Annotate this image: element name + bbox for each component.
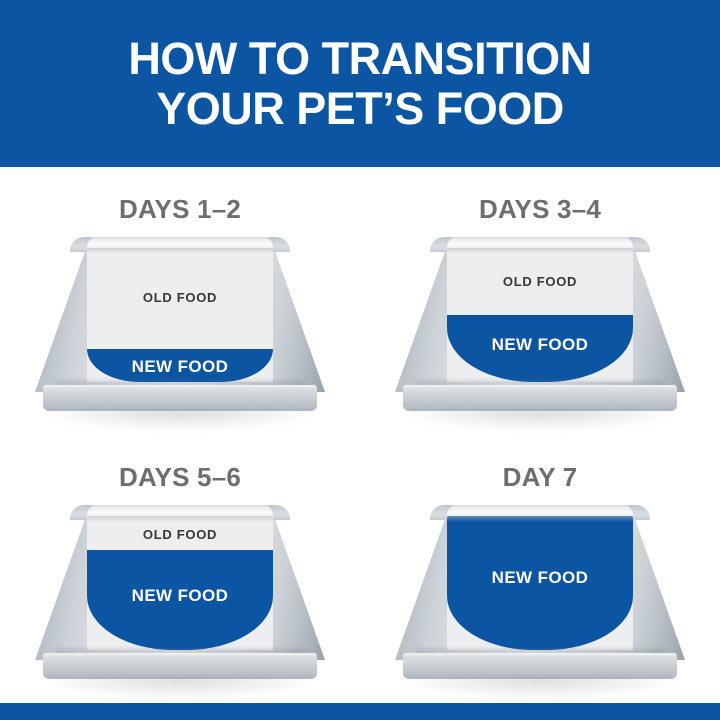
step-days-3-4: DAYS 3–4 OLD FOOD NEW FOOD <box>360 167 720 435</box>
new-food-label: NEW FOOD <box>447 335 633 355</box>
bowl-reflection <box>409 410 671 430</box>
bowl-reflection <box>409 678 671 698</box>
old-food-label: OLD FOOD <box>447 274 633 289</box>
new-food-fill: NEW FOOD <box>87 349 273 383</box>
header-banner: HOW TO TRANSITION YOUR PET’S FOOD <box>0 0 720 167</box>
new-food-fill: NEW FOOD <box>87 550 273 651</box>
step-days-5-6: DAYS 5–6 OLD FOOD NEW FOOD <box>0 435 360 703</box>
bowl-reflection <box>49 410 311 430</box>
new-food-label: NEW FOOD <box>87 357 273 377</box>
food-bowl: OLD FOOD NEW FOOD <box>35 237 325 417</box>
step-title: DAYS 3–4 <box>360 194 720 225</box>
footer-bar <box>0 703 720 720</box>
bowl-contents: OLD FOOD NEW FOOD <box>87 516 273 650</box>
bowl-contents: OLD FOOD NEW FOOD <box>447 248 633 382</box>
header-title-line-2: YOUR PET’S FOOD <box>156 84 564 134</box>
header-title-line-1: HOW TO TRANSITION <box>128 34 591 84</box>
bowl-contents: NEW FOOD <box>447 516 633 650</box>
bowl-base <box>43 385 317 411</box>
bowl-base <box>403 653 677 679</box>
bowl-reflection <box>49 678 311 698</box>
new-food-label: NEW FOOD <box>87 586 273 606</box>
new-food-label: NEW FOOD <box>447 568 633 588</box>
step-title: DAY 7 <box>360 462 720 493</box>
infographic-page: HOW TO TRANSITION YOUR PET’S FOOD DAYS 1… <box>0 0 720 720</box>
step-title: DAYS 5–6 <box>0 462 360 493</box>
bowl-contents: OLD FOOD NEW FOOD <box>87 248 273 382</box>
food-bowl: NEW FOOD <box>395 505 685 685</box>
food-bowl: OLD FOOD NEW FOOD <box>35 505 325 685</box>
bowl-base <box>403 385 677 411</box>
new-food-fill: NEW FOOD <box>447 315 633 382</box>
food-bowl: OLD FOOD NEW FOOD <box>395 237 685 417</box>
step-title: DAYS 1–2 <box>0 194 360 225</box>
steps-grid: DAYS 1–2 OLD FOOD NEW FOOD DAYS 3–4 <box>0 167 720 703</box>
step-days-1-2: DAYS 1–2 OLD FOOD NEW FOOD <box>0 167 360 435</box>
bowl-base <box>43 653 317 679</box>
old-food-label: OLD FOOD <box>87 527 273 542</box>
new-food-fill: NEW FOOD <box>447 516 633 650</box>
old-food-label: OLD FOOD <box>87 290 273 305</box>
step-day-7: DAY 7 NEW FOOD <box>360 435 720 703</box>
